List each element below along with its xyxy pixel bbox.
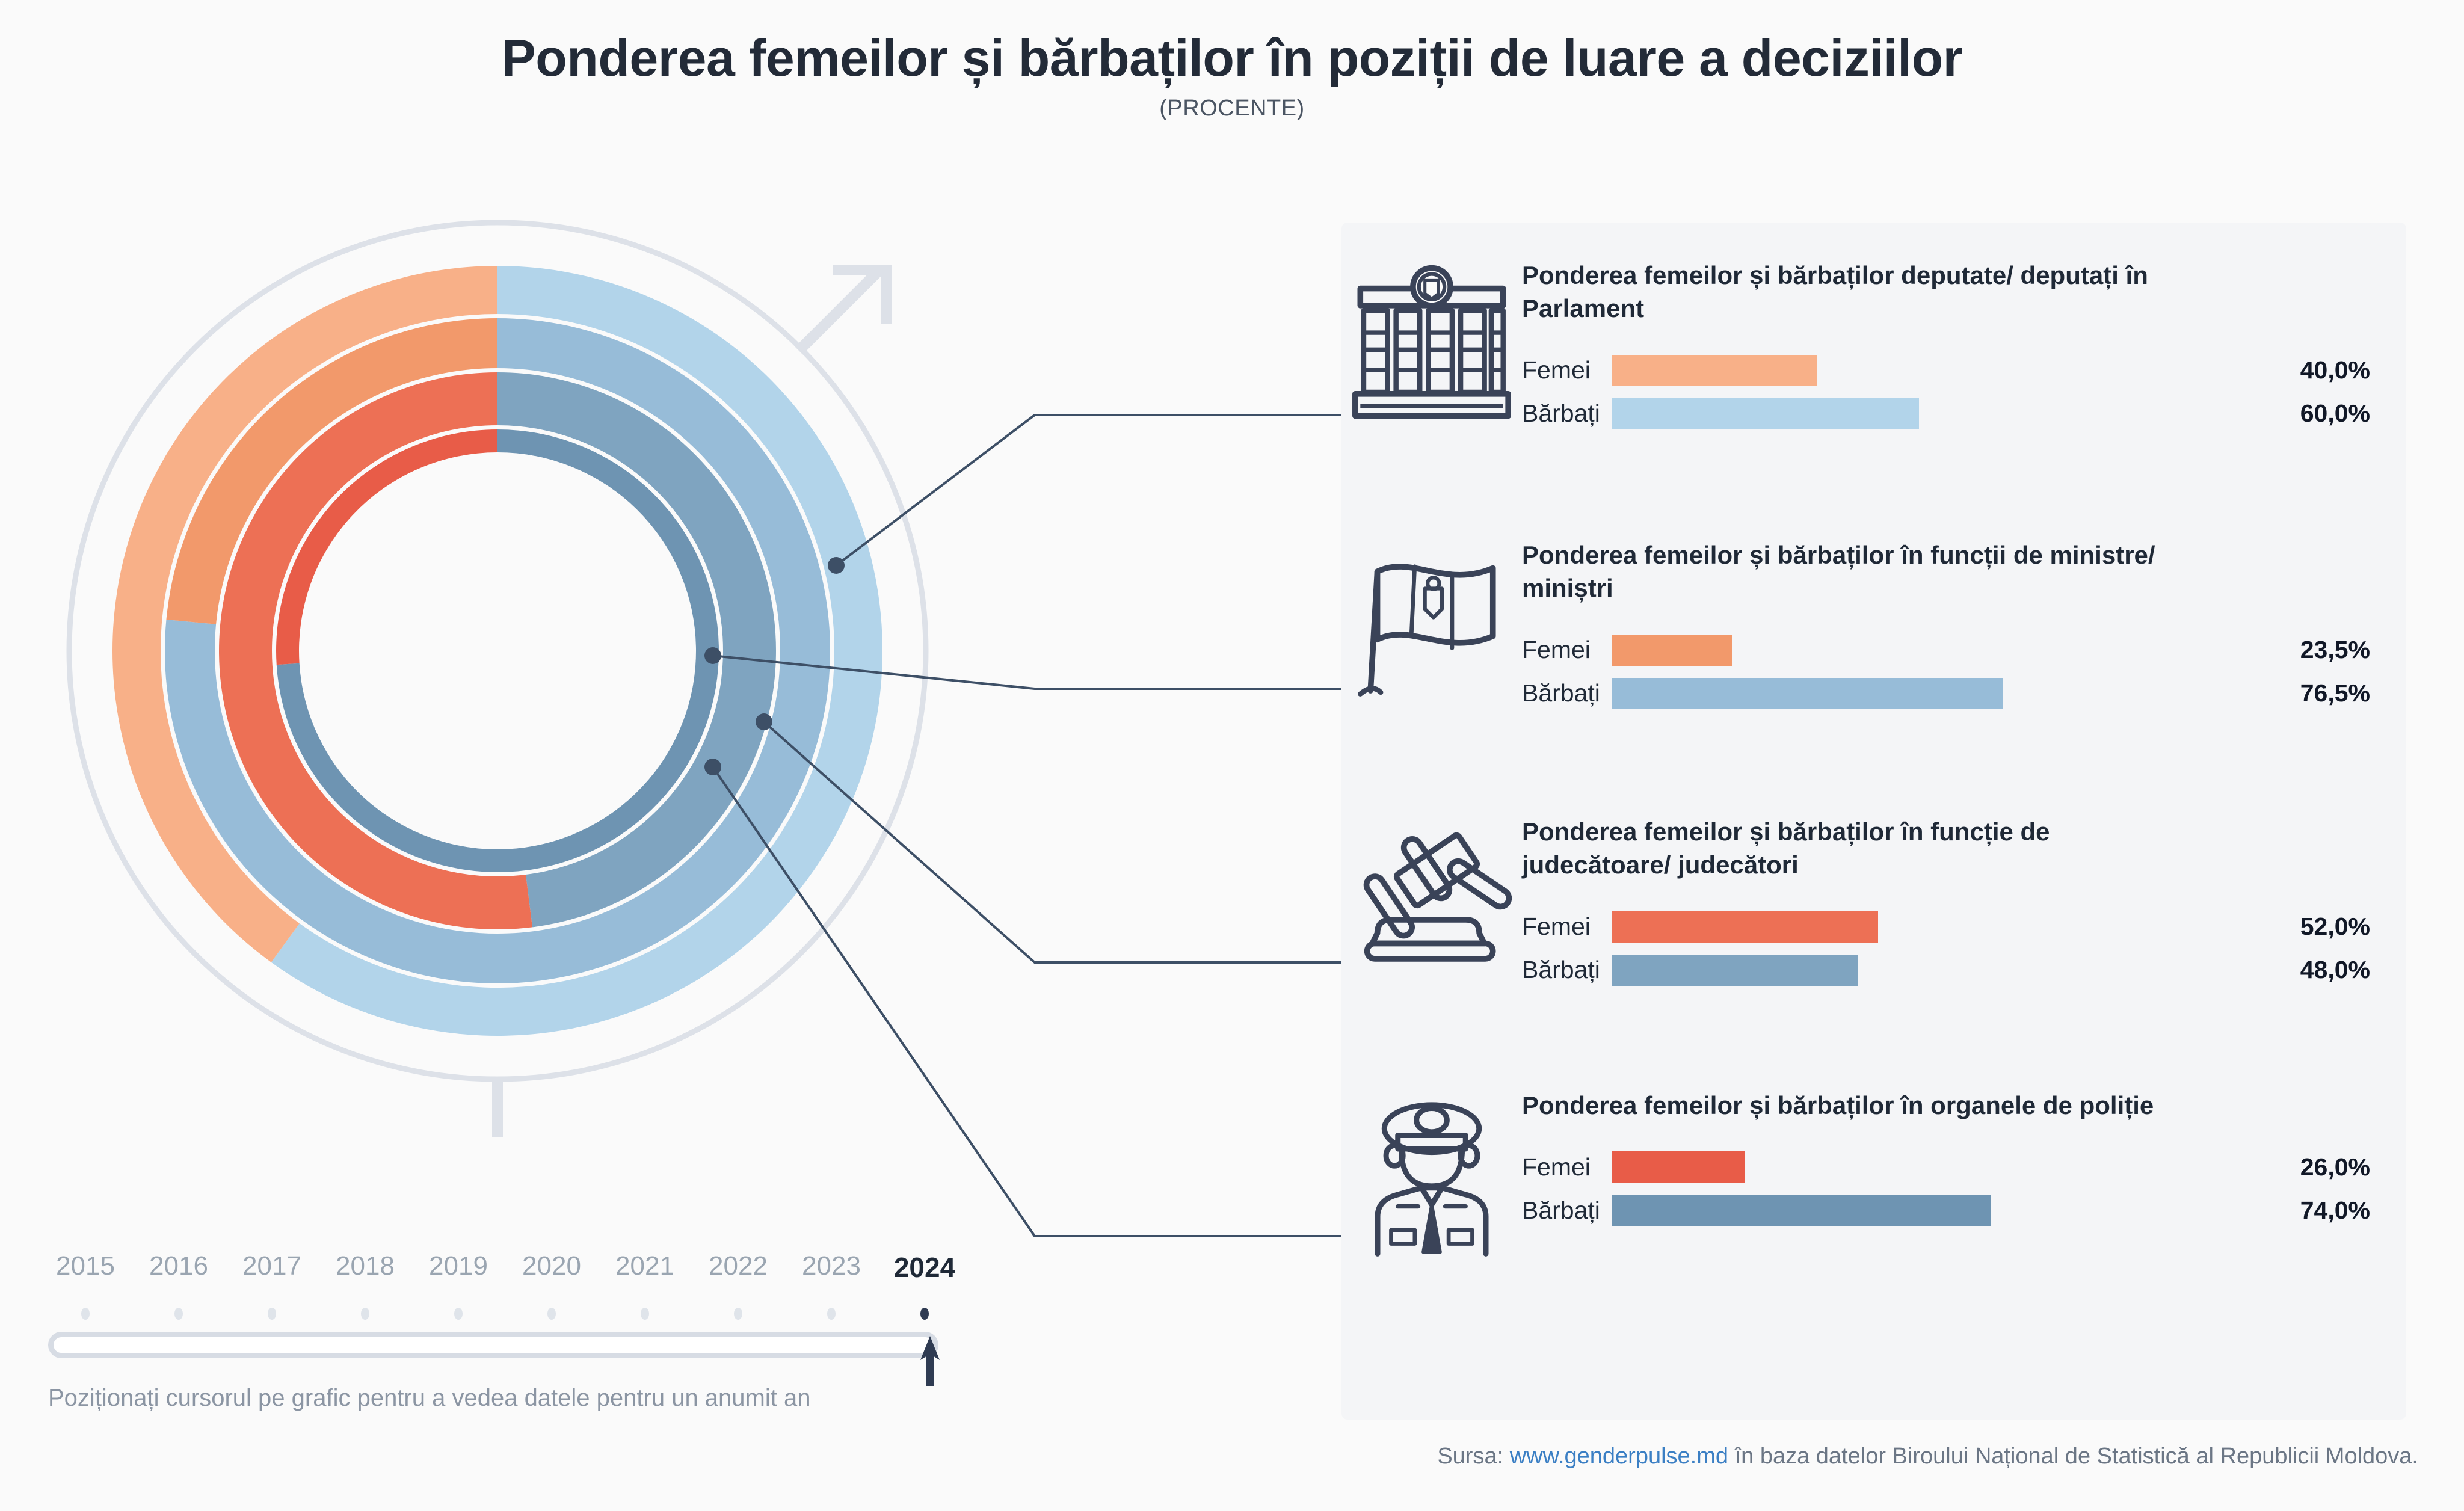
year-ticks [48, 1303, 987, 1327]
bar-women [1612, 1151, 1745, 1183]
bar-row-men: Bărbați 60,0% [1522, 395, 2370, 432]
mars-arrow-symbol [799, 270, 887, 351]
year-label-2015[interactable]: 2015 [56, 1251, 115, 1281]
year-tick-2018[interactable] [361, 1308, 369, 1320]
year-label-2017[interactable]: 2017 [242, 1251, 301, 1281]
year-label-2024[interactable]: 2024 [894, 1251, 955, 1284]
bar-label-men: Bărbați [1522, 956, 1612, 984]
bar-value-men: 76,5% [2244, 679, 2370, 707]
bar-label-women: Femei [1522, 356, 1612, 384]
source-note: Sursa: www.genderpulse.md în baza datelo… [0, 1444, 2418, 1469]
year-timeline[interactable]: 2015201620172018201920202021202220232024… [48, 1251, 987, 1408]
bar-label-women: Femei [1522, 912, 1612, 941]
indicator-card-ministri[interactable]: Ponderea femeilor și bărbaților în funcț… [1341, 538, 2406, 718]
year-tick-2015[interactable] [81, 1308, 90, 1320]
bar-row-women: Femei 40,0% [1522, 352, 2370, 389]
bar-label-women: Femei [1522, 636, 1612, 664]
year-label-2018[interactable]: 2018 [336, 1251, 395, 1281]
donut-chart[interactable] [0, 198, 1083, 1137]
bar-women [1612, 911, 1878, 943]
year-label-2021[interactable]: 2021 [615, 1251, 674, 1281]
year-label-2023[interactable]: 2023 [802, 1251, 861, 1281]
gavel-icon [1341, 815, 1522, 995]
year-tick-2016[interactable] [174, 1308, 183, 1320]
bar-label-men: Bărbați [1522, 399, 1612, 428]
flag-icon [1341, 538, 1522, 718]
bar-row-women: Femei 52,0% [1522, 908, 2370, 946]
year-label-2022[interactable]: 2022 [709, 1251, 768, 1281]
bar-value-women: 23,5% [2244, 636, 2370, 664]
card-title: Ponderea femeilor și bărbaților în funcț… [1522, 815, 2160, 882]
venus-symbol [448, 1079, 547, 1137]
bar-row-men: Bărbați 76,5% [1522, 675, 2370, 712]
source-suffix: în baza datelor Biroului Național de Sta… [1728, 1444, 2418, 1469]
year-label-2019[interactable]: 2019 [429, 1251, 488, 1281]
year-tick-2017[interactable] [268, 1308, 276, 1320]
bar-value-women: 52,0% [2244, 912, 2370, 941]
year-labels: 2015201620172018201920202021202220232024 [48, 1251, 987, 1293]
bar-value-men: 60,0% [2244, 399, 2370, 428]
bar-row-men: Bărbați 48,0% [1522, 952, 2370, 989]
page-subtitle: (PROCENTE) [0, 96, 2464, 122]
card-title: Ponderea femeilor și bărbaților în organ… [1522, 1089, 2160, 1122]
card-title: Ponderea femeilor și bărbaților în funcț… [1522, 538, 2160, 605]
indicator-panel: Ponderea femeilor și bărbaților deputate… [1341, 223, 2406, 1420]
bar-row-women: Femei 26,0% [1522, 1148, 2370, 1186]
page-title: Ponderea femeilor și bărbaților în poziț… [0, 30, 2464, 87]
source-link[interactable]: www.genderpulse.md [1510, 1444, 1728, 1469]
indicator-card-parlament[interactable]: Ponderea femeilor și bărbaților deputate… [1341, 259, 2406, 439]
bar-value-women: 26,0% [2244, 1153, 2370, 1181]
bar-value-men: 48,0% [2244, 956, 2370, 984]
bar-women [1612, 635, 1732, 666]
police-officer-icon [1341, 1089, 1522, 1257]
year-label-2016[interactable]: 2016 [149, 1251, 208, 1281]
bar-men [1612, 955, 1858, 986]
bar-row-men: Bărbați 74,0% [1522, 1192, 2370, 1229]
bar-men [1612, 398, 1919, 429]
bar-women [1612, 355, 1817, 386]
year-tick-2021[interactable] [641, 1308, 649, 1320]
year-tick-2020[interactable] [547, 1308, 556, 1320]
indicator-card-politie[interactable]: Ponderea femeilor și bărbaților în organ… [1341, 1089, 2406, 1257]
donut-rings [112, 266, 882, 1036]
year-label-2020[interactable]: 2020 [522, 1251, 581, 1281]
timeline-track[interactable] [48, 1332, 938, 1358]
source-prefix: Sursa: [1437, 1444, 1509, 1469]
bar-row-women: Femei 23,5% [1522, 632, 2370, 669]
timeline-hint: Poziționați cursorul pe grafic pentru a … [48, 1385, 987, 1412]
bar-men [1612, 1195, 1991, 1226]
bar-label-women: Femei [1522, 1153, 1612, 1181]
bar-value-men: 74,0% [2244, 1196, 2370, 1225]
parliament-icon [1341, 259, 1522, 439]
indicator-card-judecatori[interactable]: Ponderea femeilor și bărbaților în funcț… [1341, 815, 2406, 995]
card-title: Ponderea femeilor și bărbaților deputate… [1522, 259, 2160, 325]
page-header: Ponderea femeilor și bărbaților în poziț… [0, 30, 2464, 122]
bar-label-men: Bărbați [1522, 679, 1612, 707]
year-tick-2019[interactable] [454, 1308, 463, 1320]
year-tick-2024[interactable] [920, 1308, 929, 1320]
year-tick-2022[interactable] [734, 1308, 742, 1320]
bar-label-men: Bărbați [1522, 1196, 1612, 1225]
bar-value-women: 40,0% [2244, 356, 2370, 384]
bar-men [1612, 678, 2003, 709]
year-tick-2023[interactable] [827, 1308, 836, 1320]
